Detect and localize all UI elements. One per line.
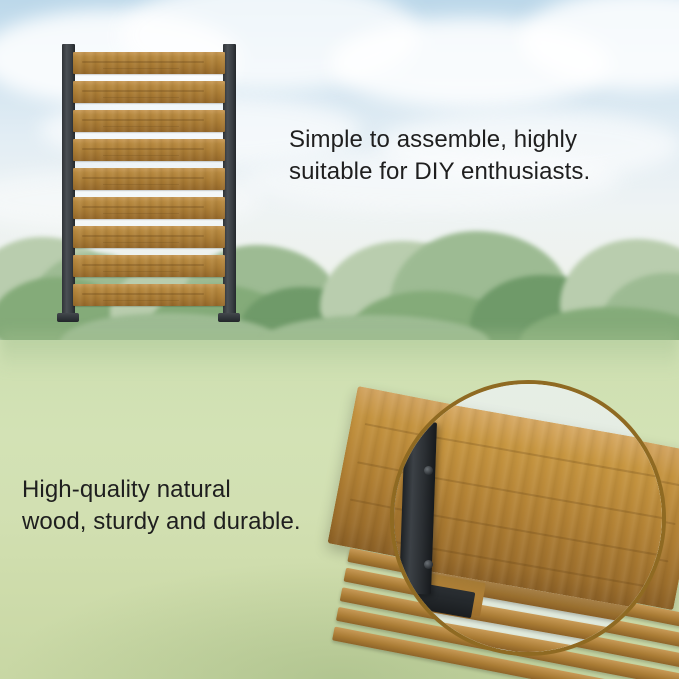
assembly-caption: Simple to assemble, highly suitable for …	[289, 124, 667, 188]
material-caption-line-2: wood, sturdy and durable.	[22, 506, 372, 538]
fence-slat	[73, 168, 225, 190]
fence-slat	[73, 139, 225, 161]
assembly-caption-line-2: suitable for DIY enthusiasts.	[289, 156, 667, 188]
material-caption-line-1: High-quality natural	[22, 474, 372, 506]
screw-icon	[424, 466, 433, 475]
fence-slat-group	[73, 52, 225, 304]
fence-panel	[60, 44, 240, 326]
material-caption: High-quality natural wood, sturdy and du…	[22, 474, 372, 538]
detail-metal-bracket	[399, 421, 437, 594]
fence-foot-left	[57, 313, 79, 322]
fence-slat	[73, 284, 225, 306]
fence-slat	[73, 226, 225, 248]
fence-slat	[73, 52, 225, 74]
lawn-horizon-blur	[0, 332, 679, 372]
fence-slat	[73, 110, 225, 132]
fence-slat	[73, 81, 225, 103]
bracket-detail-circle	[390, 380, 666, 656]
product-image: Simple to assemble, highly suitable for …	[0, 0, 679, 679]
fence-slat	[73, 255, 225, 277]
assembly-caption-line-1: Simple to assemble, highly	[289, 124, 667, 156]
fence-slat	[73, 197, 225, 219]
detail-circle-content	[390, 380, 666, 656]
screw-icon	[424, 560, 433, 569]
fence-foot-right	[218, 313, 240, 322]
